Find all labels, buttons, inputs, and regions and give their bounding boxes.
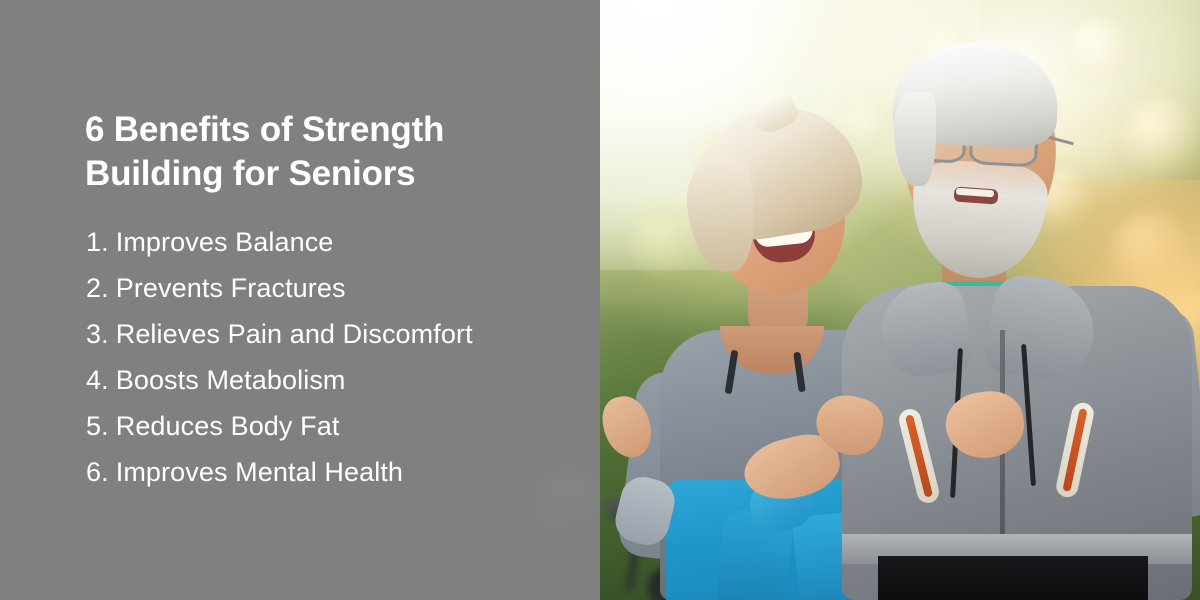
list-item: 6.Improves Mental Health [86, 449, 473, 495]
list-item-number: 3. [86, 319, 109, 349]
list-item-number: 2. [86, 273, 109, 303]
list-item: 3.Relieves Pain and Discomfort [86, 311, 473, 357]
list-item: 4.Boosts Metabolism [86, 357, 473, 403]
list-item-label: Improves Mental Health [116, 457, 403, 487]
benefits-list: 1.Improves Balance 2.Prevents Fractures … [86, 219, 473, 495]
senior-man [850, 0, 1200, 600]
infographic-banner: 6 Benefits of Strength Building for Seni… [0, 0, 1200, 600]
list-item-label: Boosts Metabolism [116, 365, 346, 395]
list-item-number: 6. [86, 457, 109, 487]
list-item-number: 4. [86, 365, 109, 395]
list-item-label: Improves Balance [116, 227, 334, 257]
list-item-label: Reduces Body Fat [116, 411, 340, 441]
list-item: 2.Prevents Fractures [86, 265, 473, 311]
list-item: 5.Reduces Body Fat [86, 403, 473, 449]
list-item-label: Relieves Pain and Discomfort [116, 319, 473, 349]
woman-hair-side [684, 158, 758, 274]
list-item-label: Prevents Fractures [116, 273, 346, 303]
hero-photo [600, 0, 1200, 600]
page-title: 6 Benefits of Strength Building for Seni… [85, 108, 505, 196]
list-item-number: 5. [86, 411, 109, 441]
list-item: 1.Improves Balance [86, 219, 473, 265]
panel-content: 6 Benefits of Strength Building for Seni… [85, 0, 585, 600]
man-pants [878, 556, 1148, 600]
man-hair-side [894, 92, 936, 186]
list-item-number: 1. [86, 227, 109, 257]
